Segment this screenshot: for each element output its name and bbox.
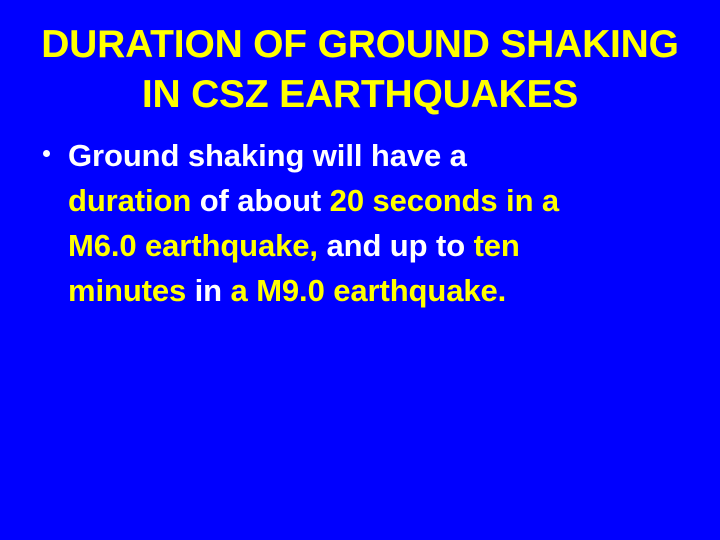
slide-title: DURATION OF GROUND SHAKING IN CSZ EARTHQ…: [0, 20, 720, 120]
title-line-1: DURATION OF GROUND SHAKING: [0, 20, 720, 70]
body-segment: and up to: [318, 228, 474, 263]
body-segment-highlight: a M9.0 earthquake.: [222, 273, 506, 308]
slide-body: Ground shaking will have a duration of a…: [36, 133, 696, 313]
body-line-1: Ground shaking will have a: [68, 133, 696, 178]
bullet-point-icon: [43, 150, 50, 157]
body-segment-highlight: ten: [474, 228, 520, 263]
body-segment: of about: [191, 183, 329, 218]
body-segment-highlight: M6.0 earthquake,: [68, 228, 318, 263]
body-segment-highlight: 20 seconds in a: [330, 183, 559, 218]
body-line-2: duration of about 20 seconds in a: [68, 178, 696, 223]
body-segment-highlight: duration: [68, 183, 191, 218]
body-segment: in: [195, 273, 222, 308]
body-line-4: minutes in a M9.0 earthquake.: [68, 268, 696, 313]
body-segment: Ground shaking will have a: [68, 138, 467, 173]
bullet-item: Ground shaking will have a duration of a…: [36, 133, 696, 313]
body-line-3: M6.0 earthquake, and up to ten: [68, 223, 696, 268]
presentation-slide: DURATION OF GROUND SHAKING IN CSZ EARTHQ…: [0, 0, 720, 540]
title-line-2: IN CSZ EARTHQUAKES: [0, 70, 720, 120]
body-segment-highlight: minutes: [68, 273, 195, 308]
